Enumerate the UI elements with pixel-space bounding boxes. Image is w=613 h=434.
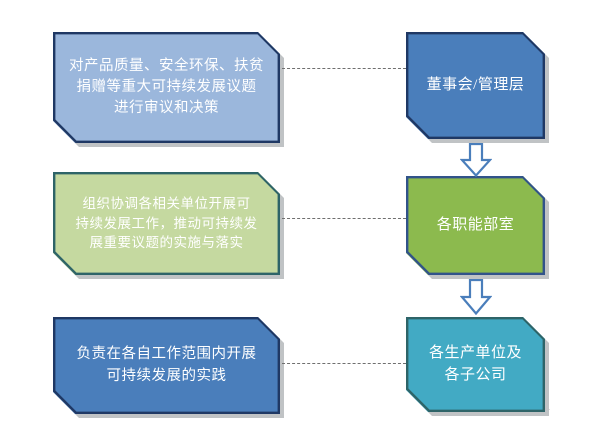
responsibility-box-row-2-label: 组织协调各相关单位开展可 持续发展工作，推动可持续发 展重要议题的实施与落实 (62, 194, 272, 253)
entity-box-row-2[interactable]: 各职能部室 (406, 176, 545, 275)
connector-dashed-row-1 (282, 68, 406, 69)
entity-box-row-1[interactable]: 董事会/管理层 (406, 32, 545, 139)
connector-dashed-row-3 (282, 363, 406, 364)
diagram-canvas: 对产品质量、安全环保、扶贫 捐赠等重大可持续发展议题 进行审议和决策 董事会/管… (0, 0, 613, 434)
responsibility-box-row-2[interactable]: 组织协调各相关单位开展可 持续发展工作，推动可持续发 展重要议题的实施与落实 (53, 172, 280, 275)
entity-box-row-2-label: 各职能部室 (423, 215, 529, 237)
corner-artifact-mark: · (548, 406, 550, 414)
connector-dashed-row-2 (282, 218, 406, 219)
arrow-board-to-departments-icon (460, 143, 492, 177)
entity-box-row-1-label: 董事会/管理层 (413, 75, 539, 97)
entity-box-row-3-label: 各生产单位及 各子公司 (415, 343, 536, 387)
arrow-departments-to-units-icon (460, 279, 492, 315)
responsibility-box-row-3-label: 负责在各自工作范围内开展 可持续发展的实践 (63, 344, 271, 386)
responsibility-box-row-3[interactable]: 负责在各自工作范围内开展 可持续发展的实践 (53, 317, 280, 414)
responsibility-box-row-1[interactable]: 对产品质量、安全环保、扶贫 捐赠等重大可持续发展议题 进行审议和决策 (53, 32, 280, 143)
entity-box-row-3[interactable]: 各生产单位及 各子公司 (406, 317, 545, 412)
responsibility-box-row-1-label: 对产品质量、安全环保、扶贫 捐赠等重大可持续发展议题 进行审议和决策 (55, 56, 278, 119)
